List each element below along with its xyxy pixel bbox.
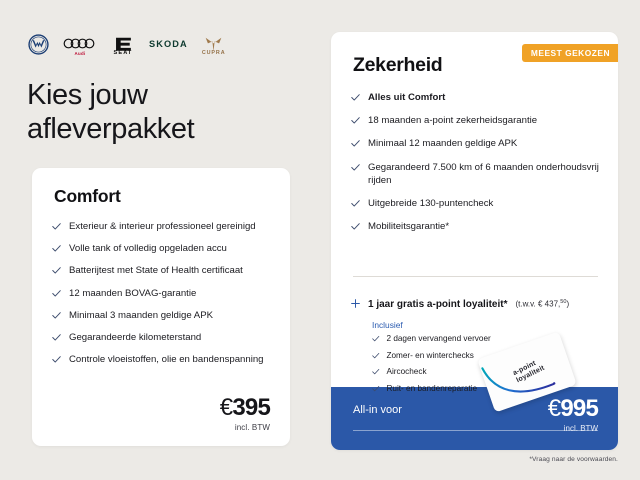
list-item: Uitgebreide 130-puntencheck — [351, 197, 602, 210]
comfort-feature-label: 12 maanden BOVAG-garantie — [69, 287, 196, 300]
loyalty-value-suffix: ) — [566, 300, 569, 309]
check-icon — [52, 222, 61, 231]
zekerheid-feature-label: 18 maanden a-point zekerheidsgarantie — [368, 114, 537, 127]
list-item: Controle vloeistoffen, olie en bandenspa… — [52, 353, 278, 366]
list-item: Gegarandeerde kilometerstand — [52, 331, 278, 344]
list-item: Minimaal 12 maanden geldige APK — [351, 137, 602, 150]
check-icon — [351, 116, 360, 125]
zekerheid-package-card[interactable]: MEEST GEKOZEN Zekerheid Alles uit Comfor… — [331, 32, 618, 450]
disclaimer-text: *Vraag naar de voorwaarden. — [529, 456, 618, 463]
brand-logo-bar: Audi SEAT SKODA CUPRA — [28, 32, 226, 56]
headline-line-2: afleverpakket — [27, 112, 307, 146]
volkswagen-logo — [28, 34, 49, 55]
check-icon — [351, 222, 360, 231]
audi-wordmark: Audi — [75, 51, 86, 56]
skoda-logo: SKODA — [149, 39, 188, 49]
headline-line-1: Kies jouw — [27, 78, 307, 112]
check-icon — [351, 139, 360, 148]
zekerheid-feature-list: Alles uit Comfort18 maanden a-point zeke… — [351, 91, 602, 244]
list-item: Minimaal 3 maanden geldige APK — [52, 309, 278, 322]
skoda-wordmark: SKODA — [149, 39, 188, 49]
cupra-logo: CUPRA — [202, 33, 226, 56]
inclusief-item-label: 2 dagen vervangend vervoer — [387, 334, 491, 345]
footer-price-label: All-in voor — [353, 404, 402, 416]
section-divider — [353, 276, 598, 277]
comfort-price: €395 — [220, 396, 270, 420]
zekerheid-price: €995 — [548, 397, 598, 421]
currency-symbol: € — [220, 394, 233, 421]
zekerheid-feature-label: Minimaal 12 maanden geldige APK — [368, 137, 517, 150]
check-icon — [52, 355, 61, 364]
comfort-price-note: incl. BTW — [220, 423, 270, 432]
zekerheid-feature-label: Alles uit Comfort — [368, 91, 445, 104]
comfort-price-block: €395 incl. BTW — [220, 396, 270, 432]
zekerheid-feature-label: Gegarandeerd 7.500 km of 6 maanden onder… — [368, 161, 602, 187]
check-icon — [372, 335, 380, 343]
check-icon — [52, 244, 61, 253]
zekerheid-price-amount: 995 — [560, 395, 598, 422]
list-item: Alles uit Comfort — [351, 91, 602, 104]
comfort-price-amount: 395 — [232, 394, 270, 421]
loyalty-addon-row: 1 jaar gratis a-point loyaliteit* (t.w.v… — [351, 294, 604, 310]
check-icon — [52, 289, 61, 298]
list-item: Exterieur & interieur professioneel gere… — [52, 220, 278, 233]
zekerheid-card-title: Zekerheid — [353, 54, 442, 77]
comfort-feature-list: Exterieur & interieur professioneel gere… — [52, 220, 278, 376]
currency-symbol: € — [548, 395, 561, 422]
list-item: Ruit- en bandenreparatie — [372, 384, 491, 395]
list-item: Zomer- en winterchecks — [372, 351, 491, 362]
zekerheid-feature-label: Mobiliteitsgarantie* — [368, 220, 449, 233]
comfort-feature-label: Minimaal 3 maanden geldige APK — [69, 309, 213, 322]
check-icon — [372, 368, 380, 376]
list-item: Batterijtest met State of Health certifi… — [52, 264, 278, 277]
audi-logo: Audi — [63, 33, 97, 55]
loyalty-value: (t.w.v. € 437,50) — [515, 299, 569, 309]
comfort-feature-label: Exterieur & interieur professioneel gere… — [69, 220, 256, 233]
loyalty-title: 1 jaar gratis a-point loyaliteit* — [368, 299, 507, 310]
comfort-feature-label: Controle vloeistoffen, olie en bandenspa… — [69, 353, 264, 366]
status-badge: MEEST GEKOZEN — [522, 44, 618, 62]
list-item: 12 maanden BOVAG-garantie — [52, 287, 278, 300]
seat-wordmark: SEAT — [114, 50, 133, 56]
comfort-feature-label: Gegarandeerde kilometerstand — [69, 331, 201, 344]
inclusief-item-label: Zomer- en winterchecks — [387, 351, 474, 362]
check-icon — [52, 333, 61, 342]
comfort-card-title: Comfort — [54, 186, 121, 207]
inclusief-list: 2 dagen vervangend vervoerZomer- en wint… — [372, 334, 491, 401]
list-item: 2 dagen vervangend vervoer — [372, 334, 491, 345]
check-icon — [52, 311, 61, 320]
comfort-package-card[interactable]: Comfort Exterieur & interieur profession… — [32, 168, 290, 446]
zekerheid-feature-label: Uitgebreide 130-puntencheck — [368, 197, 493, 210]
list-item: Aircocheck — [372, 367, 491, 378]
list-item: Volle tank of volledig opgeladen accu — [52, 242, 278, 255]
promo-page: Audi SEAT SKODA CUPRA Kies jouw — [0, 0, 640, 480]
list-item: Mobiliteitsgarantie* — [351, 220, 602, 233]
inclusief-item-label: Aircocheck — [387, 367, 427, 378]
left-column: Audi SEAT SKODA CUPRA Kies jouw — [0, 0, 322, 480]
comfort-feature-label: Batterijtest met State of Health certifi… — [69, 264, 243, 277]
check-icon — [351, 199, 360, 208]
footer-price-block: €995 incl. BTW — [548, 397, 598, 433]
loyalty-value-prefix: (t.w.v. € 437, — [515, 300, 560, 309]
check-icon — [52, 266, 61, 275]
zekerheid-price-note: incl. BTW — [548, 424, 598, 433]
list-item: 18 maanden a-point zekerheidsgarantie — [351, 114, 602, 127]
seat-logo: SEAT — [111, 33, 135, 56]
inclusief-label: Inclusief — [372, 320, 403, 330]
check-icon — [351, 93, 360, 102]
comfort-feature-label: Volle tank of volledig opgeladen accu — [69, 242, 227, 255]
list-item: Gegarandeerd 7.500 km of 6 maanden onder… — [351, 161, 602, 187]
inclusief-item-label: Ruit- en bandenreparatie — [387, 384, 478, 395]
check-icon — [351, 163, 360, 172]
check-icon — [372, 385, 380, 393]
cupra-wordmark: CUPRA — [202, 50, 226, 56]
check-icon — [372, 352, 380, 360]
page-title: Kies jouw afleverpakket — [27, 78, 307, 146]
plus-icon — [351, 295, 360, 304]
